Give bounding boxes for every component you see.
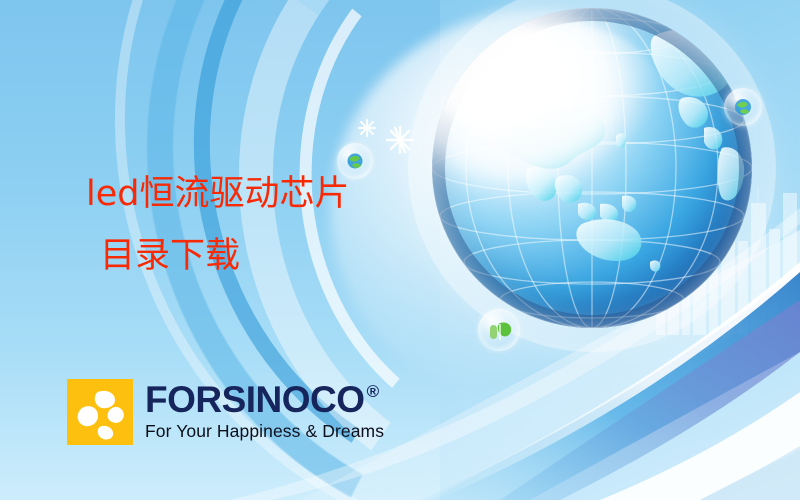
headline: led恒流驱动芯片 目录下载 xyxy=(86,163,506,287)
bubble-globe-icon-right xyxy=(724,88,762,126)
brand-wordmark: FORSINOCO ® xyxy=(145,381,384,419)
brand-wordmark-text: FORSINOCO xyxy=(145,381,365,419)
brand-logo-text: FORSINOCO ® For Your Happiness & Dreams xyxy=(145,379,384,442)
mini-globe-icon-right xyxy=(724,88,762,126)
sparkle-flower-1-icon xyxy=(385,125,415,155)
promo-banner: led恒流驱动芯片 目录下载 FORSINOCO ® For Your Happ… xyxy=(0,0,800,500)
leaf-sprout-icon xyxy=(478,309,520,351)
brand-logo-lockup: FORSINOCO ® For Your Happiness & Dreams xyxy=(67,379,384,445)
headline-line-2: 目录下载 xyxy=(86,225,506,287)
brand-tagline: For Your Happiness & Dreams xyxy=(145,420,384,442)
sparkle-flower-2-icon xyxy=(357,118,377,138)
forsinoco-pinwheel-mark-icon xyxy=(67,379,133,445)
headline-line-1: led恒流驱动芯片 xyxy=(86,163,506,225)
registered-trademark-symbol: ® xyxy=(367,383,379,400)
bubble-leaf-icon xyxy=(478,309,520,351)
